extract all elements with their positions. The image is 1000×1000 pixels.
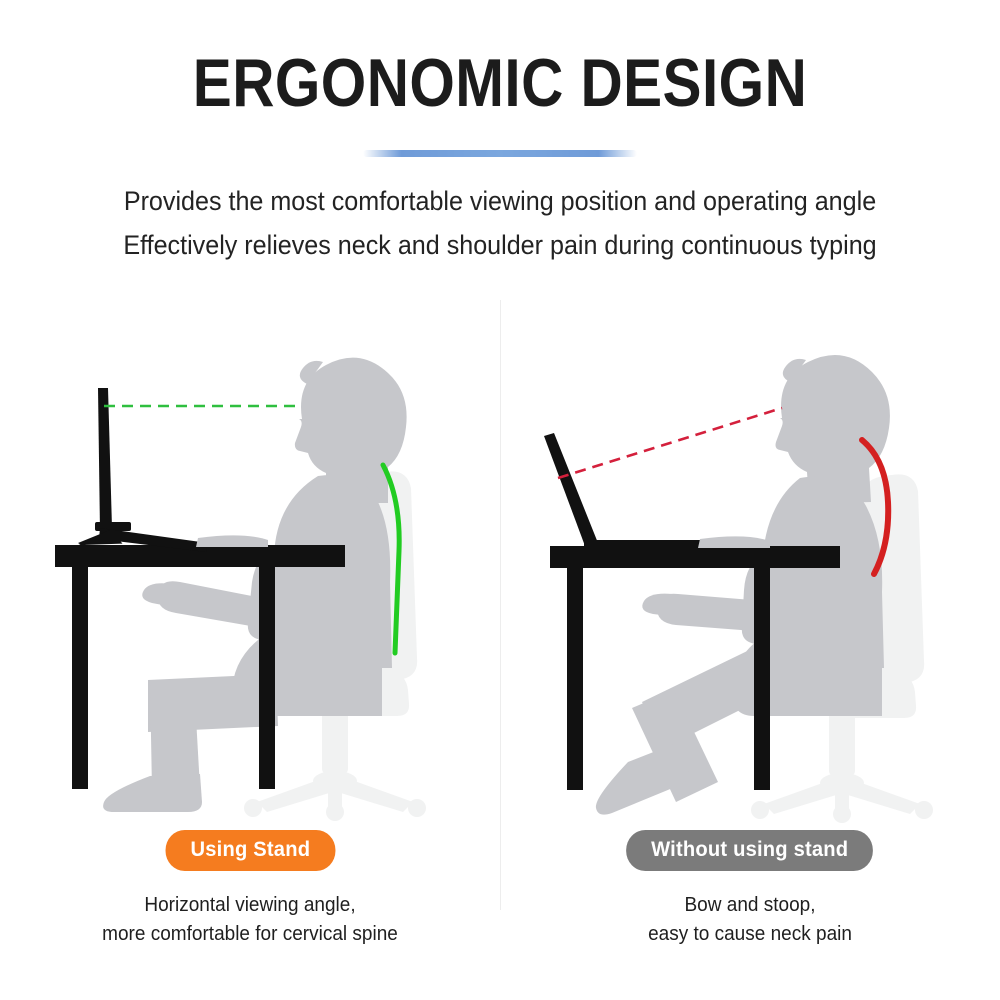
caption-text-without-stand: Bow and stoop, easy to cause neck pain (513, 891, 988, 949)
laptop-flat-on-desk (544, 433, 770, 548)
accent-underline (363, 150, 637, 157)
badge-using-stand: Using Stand (165, 830, 335, 871)
laptop-on-stand (78, 388, 268, 552)
page-title: ERGONOMIC DESIGN (70, 48, 930, 119)
panel-without-stand: Without using stand Bow and stoop, easy … (500, 300, 1000, 1000)
badge-without-using-stand: Without using stand (626, 830, 873, 871)
header: ERGONOMIC DESIGN Provides the most comfo… (0, 0, 1000, 290)
caption-line-1: Horizontal viewing angle, (13, 891, 488, 920)
sight-line-red (558, 408, 782, 478)
illustration-with-stand (0, 300, 500, 820)
caption-line-1: Bow and stoop, (513, 891, 988, 920)
caption-text-with-stand: Horizontal viewing angle, more comfortab… (13, 891, 488, 949)
caption-line-2: more comfortable for cervical spine (13, 920, 488, 949)
subtitle-line-2: Effectively relieves neck and shoulder p… (35, 230, 965, 261)
panel-with-stand: Using Stand Horizontal viewing angle, mo… (0, 300, 500, 1000)
caption-without-stand: Without using stand Bow and stoop, easy … (500, 830, 1000, 949)
illustration-without-stand (500, 300, 1000, 820)
caption-with-stand: Using Stand Horizontal viewing angle, mo… (0, 830, 500, 949)
caption-line-2: easy to cause neck pain (513, 920, 988, 949)
person-silhouette-upright (103, 358, 407, 812)
subtitle-line-1: Provides the most comfortable viewing po… (35, 186, 965, 217)
